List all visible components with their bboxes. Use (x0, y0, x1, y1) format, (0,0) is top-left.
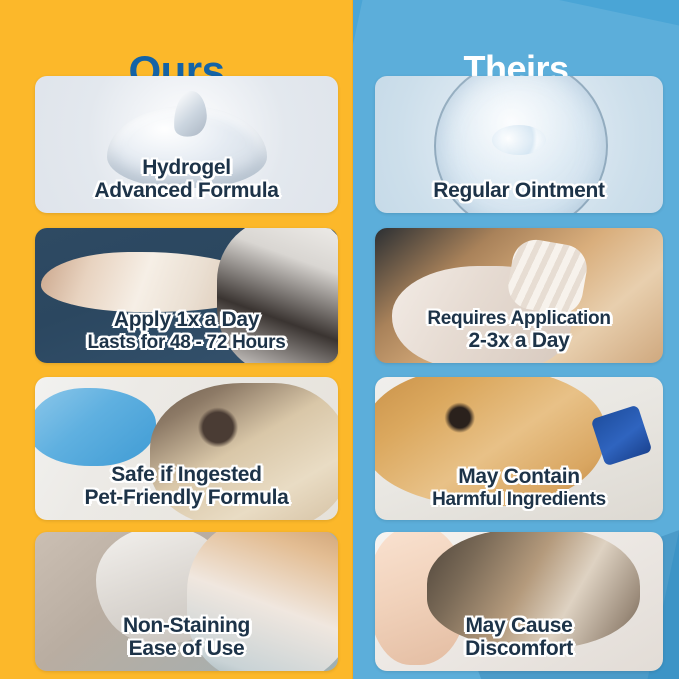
caption-line: Lasts for 48 - 72 Hours (41, 332, 332, 353)
caption-line: Ease of Use (41, 637, 332, 661)
column-theirs: Theirs Regular Ointment Requires Applica… (353, 0, 679, 679)
caption-line: Regular Ointment (381, 179, 657, 203)
caption-line: Non-Staining (41, 614, 332, 638)
caption-line: Apply 1x a Day (41, 308, 332, 332)
comparison-infographic: Ours Hydrogel Advanced Formula Apply 1x … (0, 0, 679, 679)
card-caption: Safe if Ingested Pet-Friendly Formula (35, 463, 338, 520)
caption-line: Safe if Ingested (41, 463, 332, 487)
card-caption: Non-Staining Ease of Use (35, 614, 338, 671)
card-list-ours: Hydrogel Advanced Formula Apply 1x a Day… (0, 0, 353, 679)
card-theirs-frequency: Requires Application 2-3x a Day (375, 228, 663, 363)
card-ours-ease-of-use: Non-Staining Ease of Use (35, 532, 338, 671)
card-ours-safety: Safe if Ingested Pet-Friendly Formula (35, 377, 338, 520)
caption-line: Requires Application (381, 308, 657, 329)
card-caption: Hydrogel Advanced Formula (35, 156, 338, 213)
card-list-theirs: Regular Ointment Requires Application 2-… (353, 0, 679, 679)
caption-line: Discomfort (381, 637, 657, 661)
card-caption: Requires Application 2-3x a Day (375, 308, 663, 363)
column-ours: Ours Hydrogel Advanced Formula Apply 1x … (0, 0, 353, 679)
caption-line: Harmful Ingredients (381, 489, 657, 510)
card-caption: Regular Ointment (375, 179, 663, 213)
card-ours-hydrogel: Hydrogel Advanced Formula (35, 76, 338, 213)
card-theirs-ingredients: May Contain Harmful Ingredients (375, 377, 663, 520)
caption-line: Advanced Formula (41, 179, 332, 203)
card-caption: Apply 1x a Day Lasts for 48 - 72 Hours (35, 308, 338, 363)
caption-line: Pet-Friendly Formula (41, 486, 332, 510)
caption-line: 2-3x a Day (381, 329, 657, 353)
caption-line: Hydrogel (41, 156, 332, 180)
card-theirs-ointment: Regular Ointment (375, 76, 663, 213)
caption-line: May Cause (381, 614, 657, 638)
card-ours-frequency: Apply 1x a Day Lasts for 48 - 72 Hours (35, 228, 338, 363)
card-theirs-discomfort: May Cause Discomfort (375, 532, 663, 671)
card-caption: May Contain Harmful Ingredients (375, 465, 663, 520)
card-caption: May Cause Discomfort (375, 614, 663, 671)
caption-line: May Contain (381, 465, 657, 489)
